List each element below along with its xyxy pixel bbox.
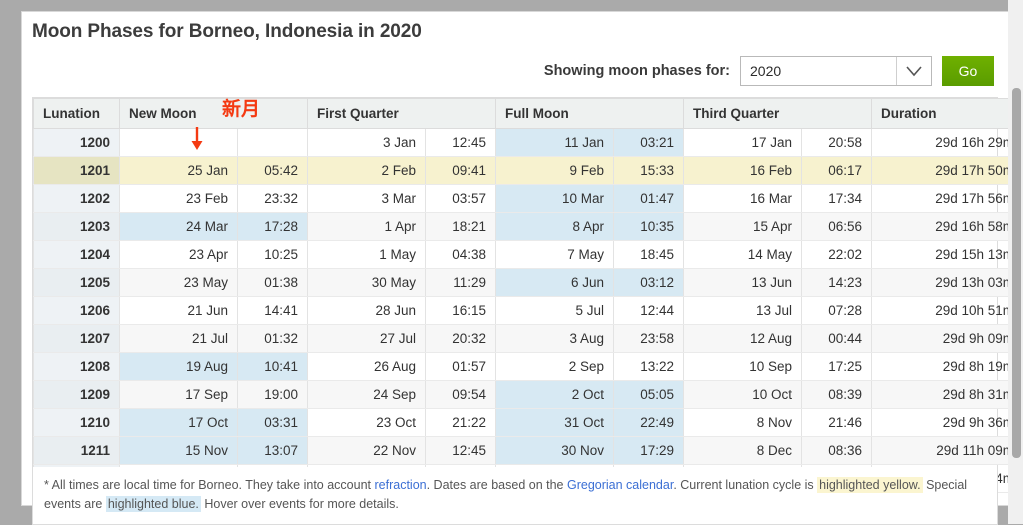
cell-third-quarter-date: 12 Aug (684, 325, 802, 353)
cell-third-quarter-time: 22:02 (802, 241, 872, 269)
cell-full-moon-date: 5 Jul (496, 297, 614, 325)
cell-first-quarter-time: 03:57 (426, 185, 496, 213)
cell-lunation: 1201 (34, 157, 120, 185)
cell-lunation: 1205 (34, 269, 120, 297)
footnote-text-3: . Current lunation cycle is (673, 478, 817, 492)
cell-new-moon-time: 10:25 (238, 241, 308, 269)
footnote-text-2: . Dates are based on the (427, 478, 567, 492)
cell-duration: 29d 17h 50m (872, 157, 1023, 185)
cell-third-quarter-time: 08:36 (802, 437, 872, 465)
table-row[interactable]: 120621 Jun14:4128 Jun16:155 Jul12:4413 J… (34, 297, 1023, 325)
cell-third-quarter-time: 17:25 (802, 353, 872, 381)
cell-full-moon-time: 23:58 (614, 325, 684, 353)
cell-first-quarter-time: 12:45 (426, 129, 496, 157)
cell-first-quarter-time: 20:32 (426, 325, 496, 353)
cell-duration: 29d 17h 56m (872, 185, 1023, 213)
cell-full-moon-date: 6 Jun (496, 269, 614, 297)
cell-lunation: 1210 (34, 409, 120, 437)
cell-lunation: 1209 (34, 381, 120, 409)
cell-new-moon-date: 17 Oct (120, 409, 238, 437)
cell-duration: 29d 8h 19m (872, 353, 1023, 381)
cell-third-quarter-time: 06:56 (802, 213, 872, 241)
column-header-full-moon[interactable]: Full Moon (496, 99, 684, 129)
cell-full-moon-date: 3 Aug (496, 325, 614, 353)
table-row[interactable]: 120423 Apr10:251 May04:387 May18:4514 Ma… (34, 241, 1023, 269)
cell-first-quarter-time: 11:29 (426, 269, 496, 297)
table-row[interactable]: 120223 Feb23:323 Mar03:5710 Mar01:4716 M… (34, 185, 1023, 213)
footnote: * All times are local time for Borneo. T… (32, 467, 998, 525)
cell-first-quarter-time: 21:22 (426, 409, 496, 437)
table-row[interactable]: 120523 May01:3830 May11:296 Jun03:1213 J… (34, 269, 1023, 297)
cell-new-moon-date: 19 Aug (120, 353, 238, 381)
cell-new-moon-date: 25 Jan (120, 157, 238, 185)
cell-third-quarter-date: 14 May (684, 241, 802, 269)
cell-third-quarter-date: 17 Jan (684, 129, 802, 157)
moon-phases-table: Lunation New Moon First Quarter Full Moo… (33, 98, 1023, 493)
cell-first-quarter-date: 30 May (308, 269, 426, 297)
cell-lunation: 1206 (34, 297, 120, 325)
cell-new-moon-time (238, 129, 308, 157)
cell-third-quarter-time: 00:44 (802, 325, 872, 353)
cell-third-quarter-date: 8 Nov (684, 409, 802, 437)
column-header-third-quarter[interactable]: Third Quarter (684, 99, 872, 129)
cell-new-moon-date (120, 129, 238, 157)
cell-new-moon-date: 15 Nov (120, 437, 238, 465)
cell-new-moon-date: 23 Apr (120, 241, 238, 269)
cell-first-quarter-date: 2 Feb (308, 157, 426, 185)
cell-full-moon-date: 31 Oct (496, 409, 614, 437)
cell-lunation: 1202 (34, 185, 120, 213)
cell-new-moon-time: 19:00 (238, 381, 308, 409)
cell-full-moon-time: 03:21 (614, 129, 684, 157)
table-row[interactable]: 120721 Jul01:3227 Jul20:323 Aug23:5812 A… (34, 325, 1023, 353)
cell-first-quarter-date: 28 Jun (308, 297, 426, 325)
cell-new-moon-date: 21 Jul (120, 325, 238, 353)
column-header-new-moon[interactable]: New Moon (120, 99, 308, 129)
cell-lunation: 1207 (34, 325, 120, 353)
go-button[interactable]: Go (942, 56, 994, 86)
cell-duration: 29d 16h 29m (872, 129, 1023, 157)
table-row[interactable]: 120917 Sep19:0024 Sep09:542 Oct05:0510 O… (34, 381, 1023, 409)
year-selector-row: Showing moon phases for: 2020 Go (544, 56, 994, 86)
cell-first-quarter-date: 1 Apr (308, 213, 426, 241)
cell-third-quarter-date: 16 Mar (684, 185, 802, 213)
footnote-text-1: * All times are local time for Borneo. T… (44, 478, 375, 492)
cell-new-moon-date: 23 Feb (120, 185, 238, 213)
cell-full-moon-time: 18:45 (614, 241, 684, 269)
cell-new-moon-time: 01:38 (238, 269, 308, 297)
cell-first-quarter-time: 01:57 (426, 353, 496, 381)
cell-full-moon-date: 10 Mar (496, 185, 614, 213)
cell-full-moon-date: 2 Sep (496, 353, 614, 381)
gregorian-calendar-link[interactable]: Gregorian calendar (567, 478, 673, 492)
cell-third-quarter-time: 20:58 (802, 129, 872, 157)
footnote-highlight-blue: highlighted blue. (106, 496, 201, 512)
cell-full-moon-time: 10:35 (614, 213, 684, 241)
cell-first-quarter-time: 09:41 (426, 157, 496, 185)
cell-new-moon-time: 17:28 (238, 213, 308, 241)
cell-lunation: 1204 (34, 241, 120, 269)
cell-third-quarter-date: 10 Sep (684, 353, 802, 381)
cell-full-moon-date: 7 May (496, 241, 614, 269)
cell-third-quarter-date: 13 Jun (684, 269, 802, 297)
column-header-first-quarter[interactable]: First Quarter (308, 99, 496, 129)
select-divider (896, 57, 897, 85)
chevron-down-icon[interactable] (905, 62, 923, 80)
cell-full-moon-time: 15:33 (614, 157, 684, 185)
cell-third-quarter-date: 13 Jul (684, 297, 802, 325)
cell-new-moon-time: 03:31 (238, 409, 308, 437)
cell-new-moon-date: 21 Jun (120, 297, 238, 325)
cell-duration: 29d 13h 03m (872, 269, 1023, 297)
cell-third-quarter-date: 15 Apr (684, 213, 802, 241)
cell-third-quarter-time: 06:17 (802, 157, 872, 185)
cell-duration: 29d 16h 58m (872, 213, 1023, 241)
cell-new-moon-date: 24 Mar (120, 213, 238, 241)
cell-first-quarter-date: 3 Mar (308, 185, 426, 213)
cell-first-quarter-date: 3 Jan (308, 129, 426, 157)
cell-full-moon-time: 01:47 (614, 185, 684, 213)
table-row[interactable]: 12003 Jan12:4511 Jan03:2117 Jan20:5829d … (34, 129, 1023, 157)
footnote-highlight-yellow: highlighted yellow. (817, 477, 922, 493)
cell-first-quarter-time: 04:38 (426, 241, 496, 269)
cell-full-moon-date: 9 Feb (496, 157, 614, 185)
cell-first-quarter-date: 24 Sep (308, 381, 426, 409)
cell-new-moon-time: 23:32 (238, 185, 308, 213)
year-select-value: 2020 (741, 63, 781, 79)
cell-full-moon-time: 03:12 (614, 269, 684, 297)
cell-full-moon-date: 11 Jan (496, 129, 614, 157)
cell-full-moon-date: 2 Oct (496, 381, 614, 409)
table-row[interactable]: 120125 Jan05:422 Feb09:419 Feb15:3316 Fe… (34, 157, 1023, 185)
cell-lunation: 1203 (34, 213, 120, 241)
cell-full-moon-date: 30 Nov (496, 437, 614, 465)
cell-full-moon-time: 22:49 (614, 409, 684, 437)
cell-duration: 29d 11h 09m (872, 437, 1023, 465)
table-row[interactable]: 121017 Oct03:3123 Oct21:2231 Oct22:498 N… (34, 409, 1023, 437)
scrollbar-thumb[interactable] (1012, 88, 1021, 458)
cell-duration: 29d 10h 51m (872, 297, 1023, 325)
cell-full-moon-time: 17:29 (614, 437, 684, 465)
cell-first-quarter-date: 23 Oct (308, 409, 426, 437)
table-header-row: Lunation New Moon First Quarter Full Moo… (34, 99, 1023, 129)
year-selector-label: Showing moon phases for: (544, 63, 730, 79)
cell-duration: 29d 9h 09m (872, 325, 1023, 353)
cell-new-moon-time: 05:42 (238, 157, 308, 185)
year-select[interactable]: 2020 (740, 56, 932, 86)
column-header-duration[interactable]: Duration (872, 99, 1023, 129)
cell-duration: 29d 8h 31m (872, 381, 1023, 409)
page-title: Moon Phases for Borneo, Indonesia in 202… (22, 12, 1008, 43)
cell-third-quarter-time: 08:39 (802, 381, 872, 409)
cell-new-moon-date: 17 Sep (120, 381, 238, 409)
cell-duration: 29d 15h 13m (872, 241, 1023, 269)
column-header-lunation[interactable]: Lunation (34, 99, 120, 129)
cell-new-moon-time: 13:07 (238, 437, 308, 465)
cell-third-quarter-date: 8 Dec (684, 437, 802, 465)
cell-lunation: 1211 (34, 437, 120, 465)
cell-third-quarter-date: 10 Oct (684, 381, 802, 409)
cell-third-quarter-date: 16 Feb (684, 157, 802, 185)
cell-new-moon-date: 23 May (120, 269, 238, 297)
refraction-link[interactable]: refraction (375, 478, 427, 492)
cell-first-quarter-date: 26 Aug (308, 353, 426, 381)
cell-first-quarter-date: 1 May (308, 241, 426, 269)
cell-first-quarter-time: 09:54 (426, 381, 496, 409)
moon-phases-card: Moon Phases for Borneo, Indonesia in 202… (22, 12, 1008, 505)
cell-third-quarter-time: 21:46 (802, 409, 872, 437)
table-row[interactable]: 120819 Aug10:4126 Aug01:572 Sep13:2210 S… (34, 353, 1023, 381)
footnote-text-5: Hover over events for more details. (201, 497, 399, 511)
cell-full-moon-time: 13:22 (614, 353, 684, 381)
table-row[interactable]: 121115 Nov13:0722 Nov12:4530 Nov17:298 D… (34, 437, 1023, 465)
cell-new-moon-time: 10:41 (238, 353, 308, 381)
cell-third-quarter-time: 17:34 (802, 185, 872, 213)
cell-duration: 29d 9h 36m (872, 409, 1023, 437)
cell-first-quarter-date: 27 Jul (308, 325, 426, 353)
vertical-scrollbar[interactable] (1008, 0, 1023, 524)
cell-full-moon-date: 8 Apr (496, 213, 614, 241)
cell-lunation: 1208 (34, 353, 120, 381)
cell-new-moon-time: 01:32 (238, 325, 308, 353)
moon-phases-table-wrapper: Lunation New Moon First Quarter Full Moo… (32, 97, 998, 493)
cell-first-quarter-date: 22 Nov (308, 437, 426, 465)
cell-full-moon-time: 05:05 (614, 381, 684, 409)
cell-first-quarter-time: 12:45 (426, 437, 496, 465)
cell-full-moon-time: 12:44 (614, 297, 684, 325)
cell-third-quarter-time: 14:23 (802, 269, 872, 297)
table-body: 12003 Jan12:4511 Jan03:2117 Jan20:5829d … (34, 129, 1023, 493)
cell-third-quarter-time: 07:28 (802, 297, 872, 325)
cell-first-quarter-time: 16:15 (426, 297, 496, 325)
cell-lunation: 1200 (34, 129, 120, 157)
table-row[interactable]: 120324 Mar17:281 Apr18:218 Apr10:3515 Ap… (34, 213, 1023, 241)
cell-first-quarter-time: 18:21 (426, 213, 496, 241)
cell-new-moon-time: 14:41 (238, 297, 308, 325)
